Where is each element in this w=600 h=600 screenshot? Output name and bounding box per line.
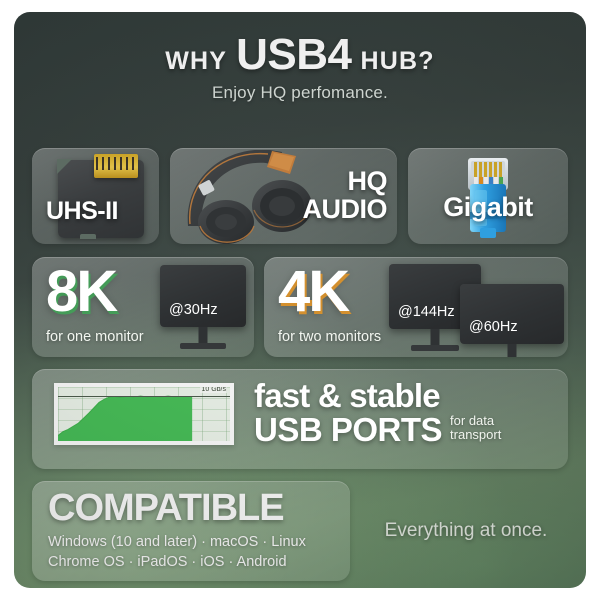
speed-note: for data transport — [450, 414, 501, 447]
monitor-icon-8k-1: @30Hz — [160, 265, 246, 327]
poster-panel: WHY USB4 HUB? Enjoy HQ perfomance. UHS-I… — [14, 12, 586, 588]
resolution-value-4k: 4K — [278, 263, 348, 321]
feature-card-gigabit: Gigabit — [408, 148, 568, 244]
monitor-stand-base — [180, 343, 226, 349]
microsd-notch-icon — [80, 234, 96, 239]
title-suffix: HUB? — [361, 47, 435, 76]
poster-tagline: Everything at once. — [364, 520, 568, 542]
microsd-contacts-icon — [94, 154, 138, 178]
feature-card-audio: HQ AUDIO — [170, 148, 397, 244]
poster-header: WHY USB4 HUB? Enjoy HQ perfomance. — [14, 34, 586, 103]
speed-headline-line1: fast & stable — [254, 379, 501, 413]
speed-headline: fast & stable USB PORTS for data transpo… — [254, 379, 501, 447]
refresh-rate-label: @60Hz — [469, 319, 518, 335]
monitor-stand-neck — [199, 327, 208, 343]
chart-threshold-line: 10 Gb/s — [58, 396, 230, 397]
chart-plot-area: 10 Gb/s — [58, 387, 230, 441]
title-main: USB4 — [236, 34, 351, 76]
feature-label-audio-line1: HQ — [303, 168, 388, 196]
resolution-card-4k: 4K for two monitors @144Hz @60Hz — [264, 257, 568, 357]
infographic-poster: WHY USB4 HUB? Enjoy HQ perfomance. UHS-I… — [0, 0, 600, 600]
feature-label-audio-line2: AUDIO — [303, 196, 388, 224]
speed-note-line2: transport — [450, 428, 501, 443]
compatibility-line-2: Chrome OS · iPadOS · iOS · Android — [48, 553, 306, 573]
resolution-card-8k: 8K for one monitor @30Hz — [32, 257, 254, 357]
feature-label-uhs: UHS-II — [46, 199, 118, 225]
monitor-icon-4k-2: @60Hz — [460, 284, 564, 344]
monitor-screen: @60Hz — [460, 284, 564, 344]
speed-headline-line2: USB PORTS — [254, 413, 442, 447]
monitor-stand-base — [411, 345, 459, 351]
chart-threshold-label: 10 Gb/s — [200, 387, 227, 393]
title-prefix: WHY — [165, 47, 227, 76]
refresh-rate-label: @144Hz — [398, 304, 455, 320]
resolution-caption-4k: for two monitors — [278, 329, 381, 345]
compatibility-title: COMPATIBLE — [48, 489, 284, 527]
refresh-rate-label: @30Hz — [169, 302, 218, 318]
resolution-value-8k: 8K — [46, 263, 116, 321]
speed-card: 10 Gb/s fast & stable USB PORTS for data… — [32, 369, 568, 469]
monitor-stand-neck — [431, 329, 440, 345]
page-subtitle: Enjoy HQ perfomance. — [14, 83, 586, 103]
monitor-screen: @30Hz — [160, 265, 246, 327]
feature-label-audio: HQ AUDIO — [303, 168, 388, 223]
feature-card-uhs: UHS-II — [32, 148, 159, 244]
resolution-caption-8k: for one monitor — [46, 329, 144, 345]
compatibility-card: COMPATIBLE Windows (10 and later) · macO… — [32, 481, 350, 581]
throughput-chart: 10 Gb/s — [54, 383, 234, 445]
compatibility-line-1: Windows (10 and later) · macOS · Linux — [48, 533, 306, 553]
compatibility-list: Windows (10 and later) · macOS · Linux C… — [48, 533, 306, 572]
monitor-stand-neck — [508, 344, 517, 357]
page-title: WHY USB4 HUB? — [14, 34, 586, 76]
feature-label-gigabit: Gigabit — [443, 194, 533, 222]
